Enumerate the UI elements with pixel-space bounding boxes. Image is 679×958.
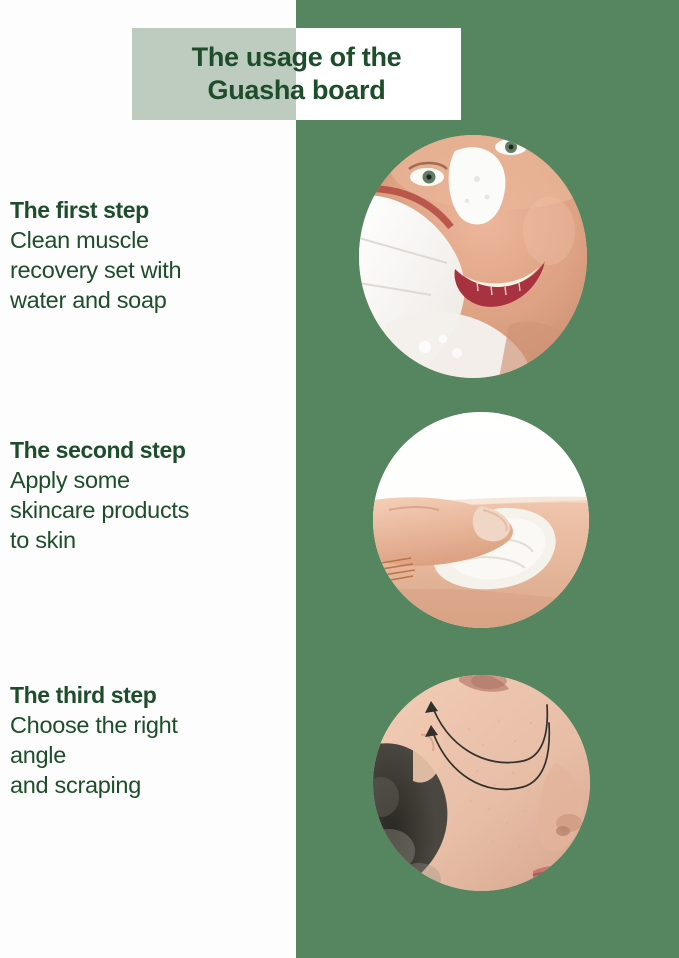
page-title-line-2: Guasha board bbox=[192, 74, 402, 107]
step-title-first: The first step bbox=[10, 198, 296, 224]
step-photo-third bbox=[373, 675, 590, 891]
step-body-first: Clean muscle recovery set with water and… bbox=[10, 225, 296, 315]
title-banner: The usage of the Guasha board bbox=[132, 28, 461, 120]
step-item-first: The first step Clean muscle recovery set… bbox=[10, 198, 296, 315]
step-body-third: Choose the right angle and scraping bbox=[10, 710, 296, 800]
step-title-second: The second step bbox=[10, 438, 296, 464]
step-body-second: Apply some skincare products to skin bbox=[10, 465, 296, 555]
step-photo-second bbox=[373, 412, 589, 628]
step-photo-first bbox=[359, 135, 587, 378]
steps-column: The first step Clean muscle recovery set… bbox=[0, 0, 296, 958]
step-item-third: The third step Choose the right angle an… bbox=[10, 683, 296, 800]
step-title-third: The third step bbox=[10, 683, 296, 709]
page-title-line-1: The usage of the bbox=[192, 41, 402, 74]
infographic-poster: The usage of the Guasha board The first … bbox=[0, 0, 679, 958]
step-item-second: The second step Apply some skincare prod… bbox=[10, 438, 296, 555]
cream-application-illustration bbox=[373, 412, 589, 628]
scraping-direction-illustration bbox=[373, 675, 590, 891]
page-title: The usage of the Guasha board bbox=[186, 41, 408, 107]
face-soap-illustration bbox=[359, 135, 587, 378]
